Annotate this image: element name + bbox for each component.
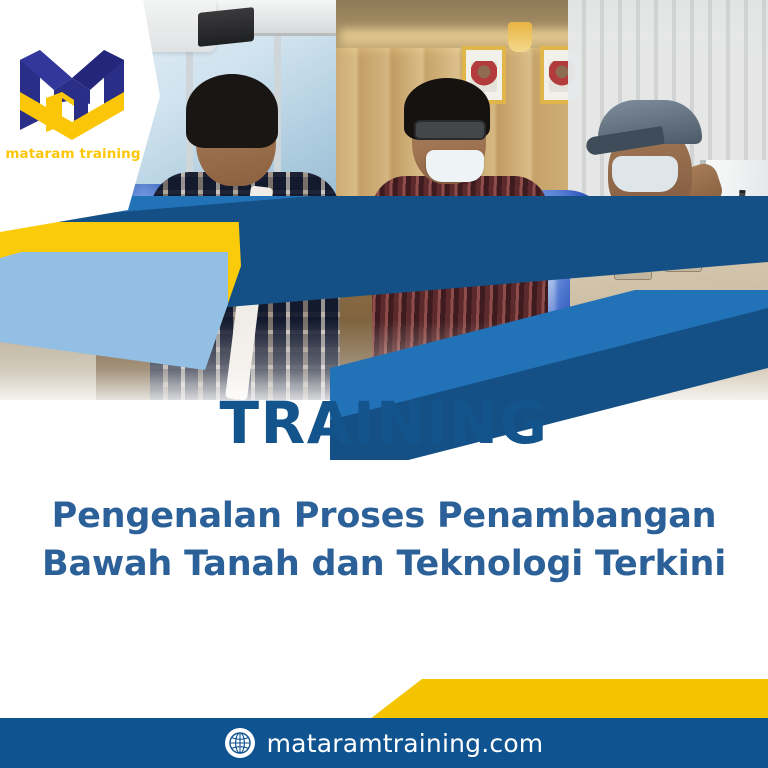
photo-wall-emblem (508, 22, 532, 52)
photo-wall-speaker (198, 7, 254, 47)
photo-person3-face-mask (612, 156, 678, 192)
course-title-line-2: Bawah Tanah dan Teknologi Terkini (26, 540, 742, 588)
website-url[interactable]: mataramtraining.com (267, 729, 544, 758)
training-poster: mataram training TRAINING Pengenalan Pro… (0, 0, 768, 768)
mataram-m-logo-icon (18, 48, 126, 140)
globe-icon (225, 728, 255, 758)
photo-person2-face-mask (426, 150, 484, 182)
course-title: Pengenalan Proses Penambangan Bawah Tana… (26, 492, 742, 589)
logo-caption: mataram training (0, 146, 146, 162)
photo-person1-hair (186, 74, 278, 148)
course-title-line-1: Pengenalan Proses Penambangan (26, 492, 742, 540)
page-title: TRAINING (0, 394, 768, 452)
photo-person2-eyeglasses (414, 120, 486, 140)
footer-bar: mataramtraining.com (0, 718, 768, 768)
footer-yellow-accent (370, 679, 768, 719)
